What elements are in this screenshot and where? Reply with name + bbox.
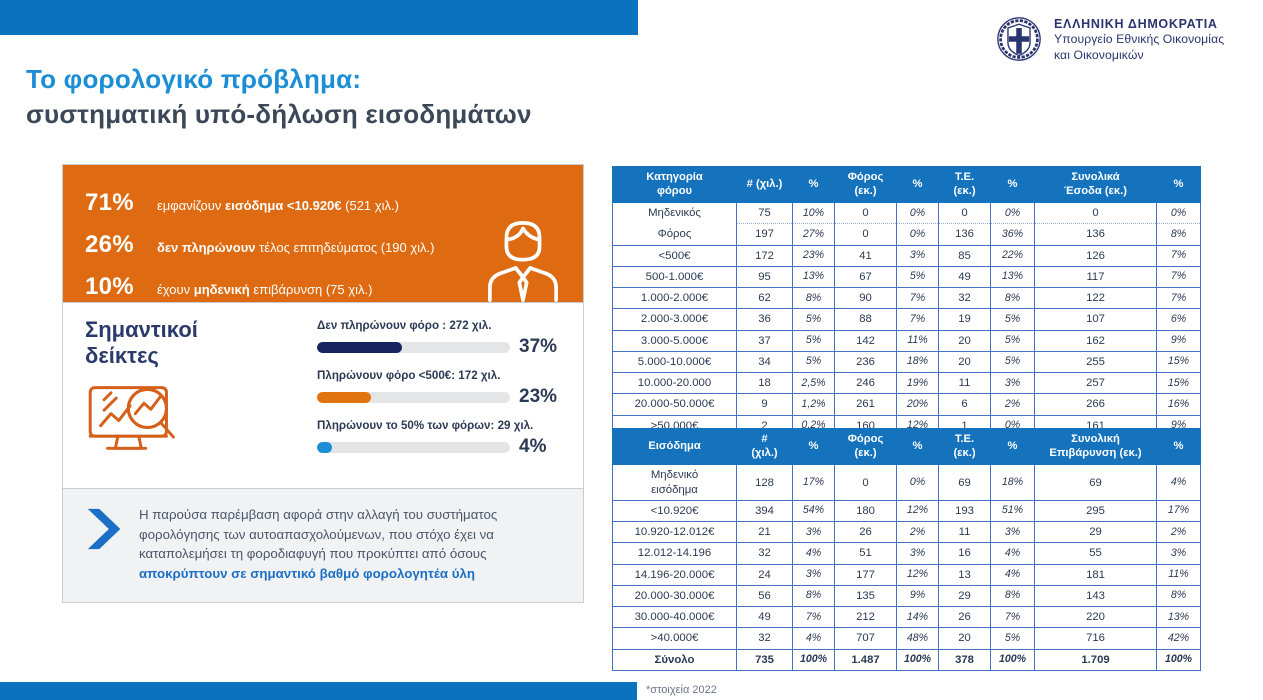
cell-value: 172	[737, 245, 793, 266]
cell-value: 18	[737, 373, 793, 394]
cell-value: 69	[939, 465, 991, 501]
cell-value: 29	[1035, 522, 1157, 543]
cell-percent: 1,2%	[793, 394, 835, 415]
column-header: %	[897, 429, 939, 465]
cell-percent: 3%	[793, 522, 835, 543]
cell-percent: 20%	[897, 394, 939, 415]
column-header: Τ.Ε.(εκ.)	[939, 429, 991, 465]
table-row: 5.000-10.000€345%23618%205%25515%	[613, 351, 1201, 372]
cell-value: 394	[737, 500, 793, 521]
cell-value: 13	[939, 564, 991, 585]
title-line-2: συστηματική υπό-δήλωση εισοδημάτων	[26, 97, 532, 132]
indicator-bar-row: 4%	[317, 436, 569, 458]
indicator-progress-track	[317, 392, 510, 403]
row-label: Μηδενικόεισόδημα	[613, 465, 737, 501]
cell-percent: 9%	[897, 585, 939, 606]
column-header: Φόρος(εκ.)	[835, 429, 897, 465]
column-header: %	[1157, 429, 1201, 465]
column-header: #(χιλ.)	[737, 429, 793, 465]
column-header: Φόρος(εκ.)	[835, 167, 897, 203]
cell-percent: 36%	[991, 224, 1035, 245]
stat-percent: 71%	[85, 189, 147, 217]
cell-percent: 16%	[1157, 394, 1201, 415]
cell-value: 246	[835, 373, 897, 394]
column-header: %	[793, 167, 835, 203]
cell-value: 49	[737, 607, 793, 628]
chevron-right-arrow-icon	[85, 507, 125, 551]
cell-percent: 5%	[793, 330, 835, 351]
cell-percent: 0%	[897, 465, 939, 501]
indicator-bar-row: 23%	[317, 386, 569, 408]
table-row: 20.000-30.000€568%1359%298%1438%	[613, 585, 1201, 606]
note-text-plain: Η παρούσα παρέμβαση αφορά στην αλλαγή το…	[139, 507, 497, 561]
cell-value: 117	[1035, 266, 1157, 287]
stat-text: δεν πληρώνουν τέλος επιτηδεύματος (190 χ…	[157, 240, 435, 256]
cell-percent: 51%	[991, 500, 1035, 521]
cell-percent: 9%	[1157, 330, 1201, 351]
cell-value: 128	[737, 465, 793, 501]
indicators-heading-block: Σημαντικοί δείκτες	[85, 317, 317, 472]
row-label: 12.012-14.196	[613, 543, 737, 564]
column-header: %	[991, 167, 1035, 203]
cell-value: 11	[939, 522, 991, 543]
stat-text: εμφανίζουν εισόδημα <10.920€ (521 χιλ.)	[157, 198, 399, 214]
note-text: Η παρούσα παρέμβαση αφορά στην αλλαγή το…	[139, 505, 565, 584]
cell-percent: 5%	[793, 351, 835, 372]
cell-value: 197	[737, 224, 793, 245]
cell-percent: 13%	[793, 266, 835, 287]
cell-value: 9	[737, 394, 793, 415]
row-label: 5.000-10.000€	[613, 351, 737, 372]
table-row: 500-1.000€9513%675%4913%1177%	[613, 266, 1201, 287]
cell-value: 26	[835, 522, 897, 543]
column-header: Κατηγορίαφόρου	[613, 167, 737, 203]
top-accent-bar	[0, 0, 638, 35]
cell-percent: 12%	[897, 564, 939, 585]
cell-value: 1.709	[1035, 649, 1157, 670]
cell-percent: 3%	[793, 564, 835, 585]
row-label: 20.000-30.000€	[613, 585, 737, 606]
cell-percent: 8%	[991, 585, 1035, 606]
cell-percent: 15%	[1157, 351, 1201, 372]
cell-value: 261	[835, 394, 897, 415]
row-label: 3.000-5.000€	[613, 330, 737, 351]
table-row: >40.000€324%70748%205%71642%	[613, 628, 1201, 649]
table-row: 12.012-14.196324%513%164%553%	[613, 543, 1201, 564]
cell-percent: 5%	[897, 266, 939, 287]
cell-percent: 8%	[793, 585, 835, 606]
row-label: Φόρος	[613, 224, 737, 245]
left-summary-card: 71%εμφανίζουν εισόδημα <10.920€ (521 χιλ…	[62, 164, 584, 603]
cell-value: 85	[939, 245, 991, 266]
cell-value: 136	[1035, 224, 1157, 245]
cell-percent: 15%	[1157, 373, 1201, 394]
cell-value: 67	[835, 266, 897, 287]
cell-value: 90	[835, 288, 897, 309]
cell-percent: 48%	[897, 628, 939, 649]
indicator-progress-fill	[317, 342, 402, 353]
cell-value: 136	[939, 224, 991, 245]
cell-percent: 11%	[897, 330, 939, 351]
cell-value: 0	[939, 203, 991, 224]
tax-category-table: Κατηγορίαφόρου# (χιλ.)%Φόρος(εκ.)%Τ.Ε.(ε…	[612, 166, 1201, 458]
cell-percent: 4%	[793, 628, 835, 649]
cell-value: 735	[737, 649, 793, 670]
cell-value: 20	[939, 628, 991, 649]
cell-percent: 7%	[793, 607, 835, 628]
cell-value: 0	[835, 224, 897, 245]
indicator-label: Πληρώνουν φόρο <500€: 172 χιλ.	[317, 369, 569, 382]
cell-percent: 23%	[793, 245, 835, 266]
cell-percent: 4%	[793, 543, 835, 564]
cell-value: 126	[1035, 245, 1157, 266]
cell-value: 21	[737, 522, 793, 543]
indicator-percent: 4%	[519, 436, 546, 458]
person-avatar-icon	[477, 210, 569, 302]
cell-value: 20	[939, 351, 991, 372]
cell-value: 0	[835, 465, 897, 501]
row-label: 500-1.000€	[613, 266, 737, 287]
cell-value: 295	[1035, 500, 1157, 521]
indicator-item: Πληρώνουν το 50% των φόρων: 29 χιλ.4%	[317, 419, 569, 458]
cell-percent: 7%	[897, 309, 939, 330]
ministry-logo: ΕΛΛΗΝΙΚΗ ΔΗΜΟΚΡΑΤΙΑ Υπουργείο Εθνικής Οι…	[996, 16, 1224, 63]
cell-value: 122	[1035, 288, 1157, 309]
cell-value: 162	[1035, 330, 1157, 351]
cell-percent: 2%	[991, 394, 1035, 415]
cell-percent: 7%	[1157, 288, 1201, 309]
row-label: 14.196-20.000€	[613, 564, 737, 585]
cell-value: 266	[1035, 394, 1157, 415]
cell-value: 142	[835, 330, 897, 351]
table-row: Μηδενικόεισόδημα12817%00%6918%694%	[613, 465, 1201, 501]
title-line-1: Το φορολογικό πρόβλημα:	[26, 62, 532, 97]
cell-value: 55	[1035, 543, 1157, 564]
cell-percent: 4%	[991, 564, 1035, 585]
indicator-label: Πληρώνουν το 50% των φόρων: 29 χιλ.	[317, 419, 569, 432]
cell-percent: 5%	[991, 351, 1035, 372]
cell-percent: 14%	[897, 607, 939, 628]
table-row: 1.000-2.000€628%907%328%1227%	[613, 288, 1201, 309]
cell-value: 180	[835, 500, 897, 521]
table-row: 14.196-20.000€243%17712%134%18111%	[613, 564, 1201, 585]
cell-percent: 54%	[793, 500, 835, 521]
cell-value: 257	[1035, 373, 1157, 394]
column-header: %	[991, 429, 1035, 465]
row-label: 10.920-12.012€	[613, 522, 737, 543]
column-header: Τ.Ε.(εκ.)	[939, 167, 991, 203]
cell-percent: 19%	[897, 373, 939, 394]
cell-value: 20	[939, 330, 991, 351]
cell-value: 181	[1035, 564, 1157, 585]
cell-percent: 100%	[1157, 649, 1201, 670]
cell-percent: 18%	[897, 351, 939, 372]
cell-value: 88	[835, 309, 897, 330]
cell-value: 41	[835, 245, 897, 266]
table-row: <10.920€39454%18012%19351%29517%	[613, 500, 1201, 521]
cell-value: 69	[1035, 465, 1157, 501]
row-label: 2.000-3.000€	[613, 309, 737, 330]
table-row: 20.000-50.000€91,2%26120%62%26616%	[613, 394, 1201, 415]
row-label: >40.000€	[613, 628, 737, 649]
cell-value: 107	[1035, 309, 1157, 330]
cell-value: 11	[939, 373, 991, 394]
cell-percent: 10%	[793, 203, 835, 224]
table-row: 10.000-20.000182,5%24619%113%25715%	[613, 373, 1201, 394]
cell-value: 143	[1035, 585, 1157, 606]
cell-value: 37	[737, 330, 793, 351]
table-1-body: Μηδενικός7510%00%00%00%Φόρος19727%00%136…	[613, 203, 1201, 458]
cell-value: 49	[939, 266, 991, 287]
cell-percent: 27%	[793, 224, 835, 245]
row-label: <500€	[613, 245, 737, 266]
monitor-magnifier-analytics-icon	[85, 375, 189, 467]
cell-value: 6	[939, 394, 991, 415]
logo-line-1: ΕΛΛΗΝΙΚΗ ΔΗΜΟΚΡΑΤΙΑ	[1054, 16, 1224, 32]
cell-percent: 0%	[991, 203, 1035, 224]
indicator-item: Πληρώνουν φόρο <500€: 172 χιλ.23%	[317, 369, 569, 408]
cell-percent: 4%	[1157, 465, 1201, 501]
logo-line-3: και Οικονομικών	[1054, 48, 1224, 64]
note-text-bold: αποκρύπτουν σε σημαντικό βαθμό φορολογητ…	[139, 566, 475, 581]
table-header-row: Κατηγορίαφόρου# (χιλ.)%Φόρος(εκ.)%Τ.Ε.(ε…	[613, 167, 1201, 203]
cell-value: 135	[835, 585, 897, 606]
cell-value: 0	[835, 203, 897, 224]
cell-value: 56	[737, 585, 793, 606]
cell-percent: 0%	[897, 224, 939, 245]
table-row: 2.000-3.000€365%887%195%1076%	[613, 309, 1201, 330]
cell-percent: 8%	[1157, 224, 1201, 245]
cell-value: 51	[835, 543, 897, 564]
footnote: *στοιχεία 2022	[646, 684, 717, 696]
column-header: ΣυνολικήΕπιβάρυνση (εκ.)	[1035, 429, 1157, 465]
note-block: Η παρούσα παρέμβαση αφορά στην αλλαγή το…	[63, 488, 583, 602]
cell-percent: 7%	[1157, 245, 1201, 266]
greek-coat-of-arms-icon	[996, 16, 1042, 62]
cell-value: 32	[737, 543, 793, 564]
table-row: 30.000-40.000€497%21214%267%22013%	[613, 607, 1201, 628]
cell-value: 32	[939, 288, 991, 309]
cell-value: 24	[737, 564, 793, 585]
cell-percent: 13%	[1157, 607, 1201, 628]
indicator-percent: 23%	[519, 386, 557, 408]
indicator-progress-fill	[317, 392, 371, 403]
cell-percent: 3%	[897, 245, 939, 266]
indicator-progress-track	[317, 342, 510, 353]
cell-percent: 2%	[897, 522, 939, 543]
table-row: Μηδενικός7510%00%00%00%	[613, 203, 1201, 224]
row-label: Μηδενικός	[613, 203, 737, 224]
indicator-percent: 37%	[519, 336, 557, 358]
cell-value: 193	[939, 500, 991, 521]
cell-percent: 17%	[1157, 500, 1201, 521]
cell-percent: 5%	[793, 309, 835, 330]
cell-value: 1.487	[835, 649, 897, 670]
cell-value: 212	[835, 607, 897, 628]
cell-value: 220	[1035, 607, 1157, 628]
cell-percent: 2%	[1157, 522, 1201, 543]
cell-percent: 100%	[991, 649, 1035, 670]
row-label: Σύνολο	[613, 649, 737, 670]
stat-text: έχουν μηδενική επιβάρυνση (75 χιλ.)	[157, 282, 372, 298]
stat-percent: 26%	[85, 231, 147, 259]
row-label: 20.000-50.000€	[613, 394, 737, 415]
cell-percent: 17%	[793, 465, 835, 501]
indicator-progress-fill	[317, 442, 332, 453]
cell-percent: 7%	[897, 288, 939, 309]
cell-value: 255	[1035, 351, 1157, 372]
cell-percent: 3%	[897, 543, 939, 564]
column-header: ΣυνολικάΈσοδα (εκ.)	[1035, 167, 1157, 203]
column-header: %	[897, 167, 939, 203]
cell-percent: 12%	[897, 500, 939, 521]
cell-value: 0	[1035, 203, 1157, 224]
table-2-body: Μηδενικόεισόδημα12817%00%6918%694%<10.92…	[613, 465, 1201, 671]
cell-percent: 18%	[991, 465, 1035, 501]
cell-percent: 6%	[1157, 309, 1201, 330]
cell-percent: 3%	[991, 373, 1035, 394]
table-row: Σύνολο735100%1.487100%378100%1.709100%	[613, 649, 1201, 670]
indicators-section: Σημαντικοί δείκτες Δεν πληρώνουν φ	[63, 302, 583, 488]
cell-value: 32	[737, 628, 793, 649]
row-label: 10.000-20.000	[613, 373, 737, 394]
cell-value: 26	[939, 607, 991, 628]
cell-value: 62	[737, 288, 793, 309]
column-header: # (χιλ.)	[737, 167, 793, 203]
cell-percent: 5%	[991, 309, 1035, 330]
cell-value: 236	[835, 351, 897, 372]
indicators-title-line-1: Σημαντικοί	[85, 317, 317, 343]
cell-percent: 8%	[793, 288, 835, 309]
cell-value: 707	[835, 628, 897, 649]
cell-value: 177	[835, 564, 897, 585]
indicators-title-line-2: δείκτες	[85, 343, 317, 369]
cell-percent: 11%	[1157, 564, 1201, 585]
cell-percent: 8%	[991, 288, 1035, 309]
table-2-header: Εισόδημα#(χιλ.)%Φόρος(εκ.)%Τ.Ε.(εκ.)%Συν…	[613, 429, 1201, 465]
cell-percent: 100%	[793, 649, 835, 670]
cell-value: 95	[737, 266, 793, 287]
cell-percent: 8%	[1157, 585, 1201, 606]
table-1-header: Κατηγορίαφόρου# (χιλ.)%Φόρος(εκ.)%Τ.Ε.(ε…	[613, 167, 1201, 203]
indicator-progress-track	[317, 442, 510, 453]
table-row: Φόρος19727%00%13636%1368%	[613, 224, 1201, 245]
cell-value: 16	[939, 543, 991, 564]
cell-value: 378	[939, 649, 991, 670]
cell-percent: 3%	[1157, 543, 1201, 564]
indicator-item: Δεν πληρώνουν φόρο : 272 χιλ.37%	[317, 319, 569, 358]
table-row: 3.000-5.000€375%14211%205%1629%	[613, 330, 1201, 351]
cell-value: 29	[939, 585, 991, 606]
indicator-bar-row: 37%	[317, 336, 569, 358]
column-header: Εισόδημα	[613, 429, 737, 465]
indicator-label: Δεν πληρώνουν φόρο : 272 χιλ.	[317, 319, 569, 332]
logo-line-2: Υπουργείο Εθνικής Οικονομίας	[1054, 32, 1224, 48]
row-label: <10.920€	[613, 500, 737, 521]
table-row: 10.920-12.012€213%262%113%292%	[613, 522, 1201, 543]
income-category-table: Εισόδημα#(χιλ.)%Φόρος(εκ.)%Τ.Ε.(εκ.)%Συν…	[612, 428, 1201, 671]
cell-percent: 2,5%	[793, 373, 835, 394]
indicator-bars-list: Δεν πληρώνουν φόρο : 272 χιλ.37%Πληρώνου…	[317, 317, 569, 472]
cell-percent: 5%	[991, 330, 1035, 351]
cell-percent: 100%	[897, 649, 939, 670]
cell-value: 716	[1035, 628, 1157, 649]
cell-percent: 3%	[991, 522, 1035, 543]
cell-percent: 4%	[991, 543, 1035, 564]
cell-percent: 5%	[991, 628, 1035, 649]
column-header: %	[793, 429, 835, 465]
page-title: Το φορολογικό πρόβλημα: συστηματική υπό-…	[26, 62, 532, 132]
cell-value: 75	[737, 203, 793, 224]
cell-percent: 13%	[991, 266, 1035, 287]
cell-percent: 7%	[1157, 266, 1201, 287]
cell-percent: 22%	[991, 245, 1035, 266]
column-header: %	[1157, 167, 1201, 203]
row-label: 30.000-40.000€	[613, 607, 737, 628]
orange-stats-panel: 71%εμφανίζουν εισόδημα <10.920€ (521 χιλ…	[63, 165, 583, 302]
row-label: 1.000-2.000€	[613, 288, 737, 309]
cell-value: 36	[737, 309, 793, 330]
cell-percent: 7%	[991, 607, 1035, 628]
cell-percent: 0%	[897, 203, 939, 224]
bottom-accent-bar	[0, 682, 637, 700]
table-header-row: Εισόδημα#(χιλ.)%Φόρος(εκ.)%Τ.Ε.(εκ.)%Συν…	[613, 429, 1201, 465]
stat-percent: 10%	[85, 273, 147, 301]
cell-percent: 0%	[1157, 203, 1201, 224]
cell-value: 34	[737, 351, 793, 372]
cell-value: 19	[939, 309, 991, 330]
cell-percent: 42%	[1157, 628, 1201, 649]
table-row: <500€17223%413%8522%1267%	[613, 245, 1201, 266]
